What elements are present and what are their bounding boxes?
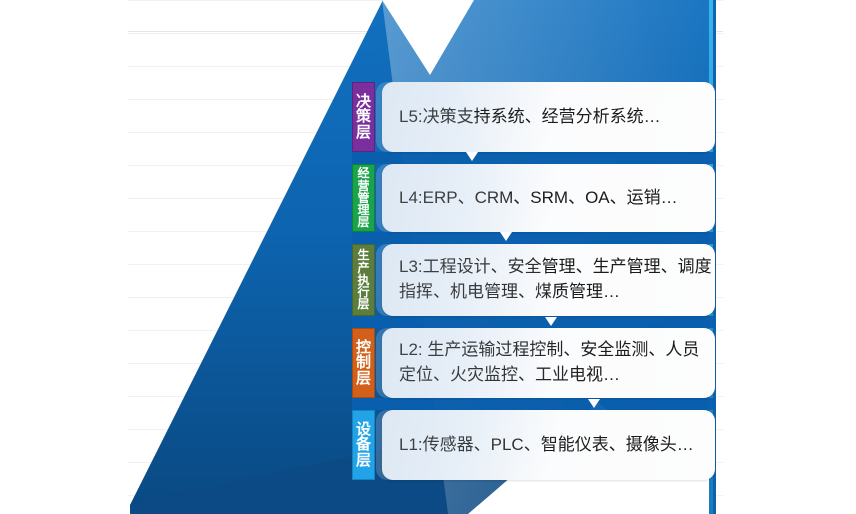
tag-char: 层 — [357, 216, 369, 228]
level-row-L3[interactable]: 生 产 执 行 层 L3:工程设计、安全管理、生产管理、调度指挥、机电管理、煤质… — [352, 244, 715, 316]
tag-char: 经 — [357, 167, 369, 179]
level-card-L5[interactable]: L5:决策支持系统、经营分析系统… — [382, 82, 715, 152]
level-card-L4[interactable]: L4:ERP、CRM、SRM、OA、运销… — [382, 164, 715, 232]
level-text-L2: L2: 生产运输过程控制、安全监测、人员定位、火灾监控、工业电视… — [399, 338, 715, 387]
level-text-L4: L4:ERP、CRM、SRM、OA、运销… — [399, 186, 678, 211]
level-text-L5: L5:决策支持系统、经营分析系统… — [399, 105, 661, 130]
tag-char: 制 — [356, 355, 371, 370]
level-card-L3[interactable]: L3:工程设计、安全管理、生产管理、调度指挥、机电管理、煤质管理… — [382, 244, 715, 316]
level-tag-L4: 经 营 管 理 层 — [352, 164, 375, 232]
level-tag-L2: 控 制 层 — [352, 328, 375, 398]
tag-char: 层 — [356, 125, 371, 140]
tag-char: 层 — [356, 453, 371, 468]
level-row-L1[interactable]: 设 备 层 L1:传感器、PLC、智能仪表、摄像头… — [352, 410, 715, 480]
level-row-L2[interactable]: 控 制 层 L2: 生产运输过程控制、安全监测、人员定位、火灾监控、工业电视… — [352, 328, 715, 398]
level-row-L5[interactable]: 决 策 层 L5:决策支持系统、经营分析系统… — [352, 82, 715, 152]
level-text-L1: L1:传感器、PLC、智能仪表、摄像头… — [399, 433, 694, 458]
level-card-L1[interactable]: L1:传感器、PLC、智能仪表、摄像头… — [382, 410, 715, 480]
level-tag-L5: 决 策 层 — [352, 82, 375, 152]
level-tag-L1: 设 备 层 — [352, 410, 375, 480]
tag-char: 层 — [357, 298, 369, 310]
tag-char: 策 — [356, 109, 371, 124]
diagram-canvas: 决 策 层 L5:决策支持系统、经营分析系统… 经 营 管 理 层 L4:ERP… — [0, 0, 856, 514]
level-tag-L3: 生 产 执 行 层 — [352, 244, 375, 316]
pyramid-levels: 决 策 层 L5:决策支持系统、经营分析系统… 经 营 管 理 层 L4:ERP… — [0, 0, 856, 514]
level-row-L4[interactable]: 经 营 管 理 层 L4:ERP、CRM、SRM、OA、运销… — [352, 164, 715, 232]
tag-char: 层 — [356, 371, 371, 386]
level-card-L2[interactable]: L2: 生产运输过程控制、安全监测、人员定位、火灾监控、工业电视… — [382, 328, 715, 398]
tag-char: 备 — [356, 437, 371, 452]
tag-char: 生 — [357, 249, 369, 261]
level-text-L3: L3:工程设计、安全管理、生产管理、调度指挥、机电管理、煤质管理… — [399, 255, 715, 304]
